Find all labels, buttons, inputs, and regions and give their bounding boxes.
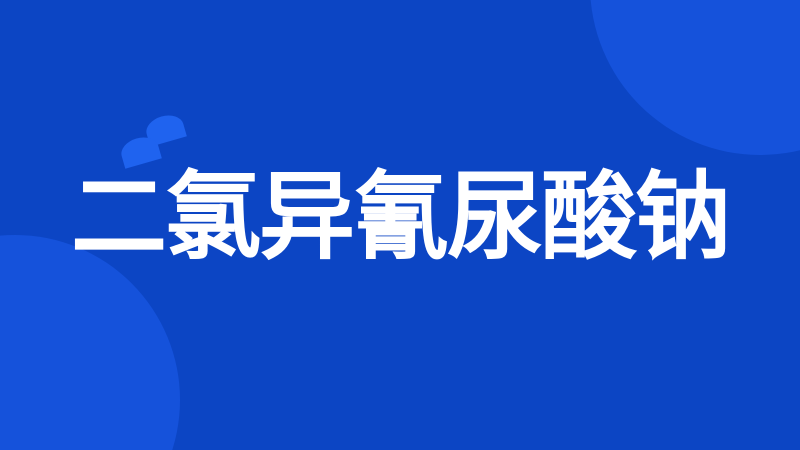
title-banner: 二氯异氰尿酸钠 [0,0,800,450]
title-container: 二氯异氰尿酸钠 [0,0,800,450]
page-title: 二氯异氰尿酸钠 [71,169,729,265]
